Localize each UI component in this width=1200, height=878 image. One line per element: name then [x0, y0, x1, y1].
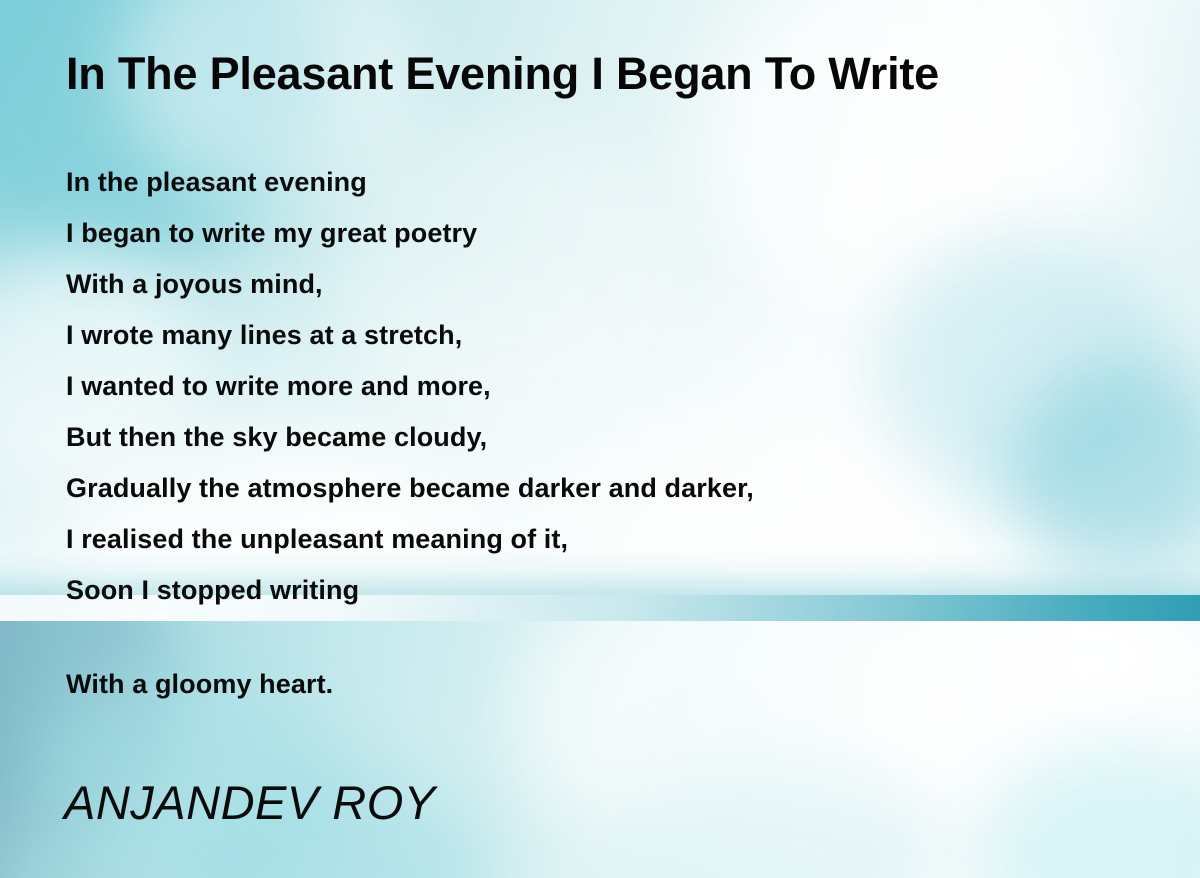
- poem-line: I wanted to write more and more,: [66, 361, 1126, 412]
- poem-line: But then the sky became cloudy,: [66, 412, 1126, 463]
- page-title: In The Pleasant Evening I Began To Write: [66, 50, 939, 97]
- poem-line: I wrote many lines at a stretch,: [66, 310, 1126, 361]
- poem-content: In The Pleasant Evening I Began To Write…: [0, 0, 1200, 878]
- poem-line: In the pleasant evening: [66, 157, 1126, 208]
- poem-line: I realised the unpleasant meaning of it,: [66, 514, 1126, 565]
- poem-closing-line: With a gloomy heart.: [66, 669, 333, 700]
- poem-line: Soon I stopped writing: [66, 565, 1126, 616]
- poem-line: With a joyous mind,: [66, 259, 1126, 310]
- poem-line: Gradually the atmosphere became darker a…: [66, 463, 1126, 514]
- poem-image-card: In The Pleasant Evening I Began To Write…: [0, 0, 1200, 878]
- poem-line: I began to write my great poetry: [66, 208, 1126, 259]
- author-name: ANJANDEV ROY: [64, 775, 436, 830]
- poem-stanza: In the pleasant evening I began to write…: [66, 157, 1126, 616]
